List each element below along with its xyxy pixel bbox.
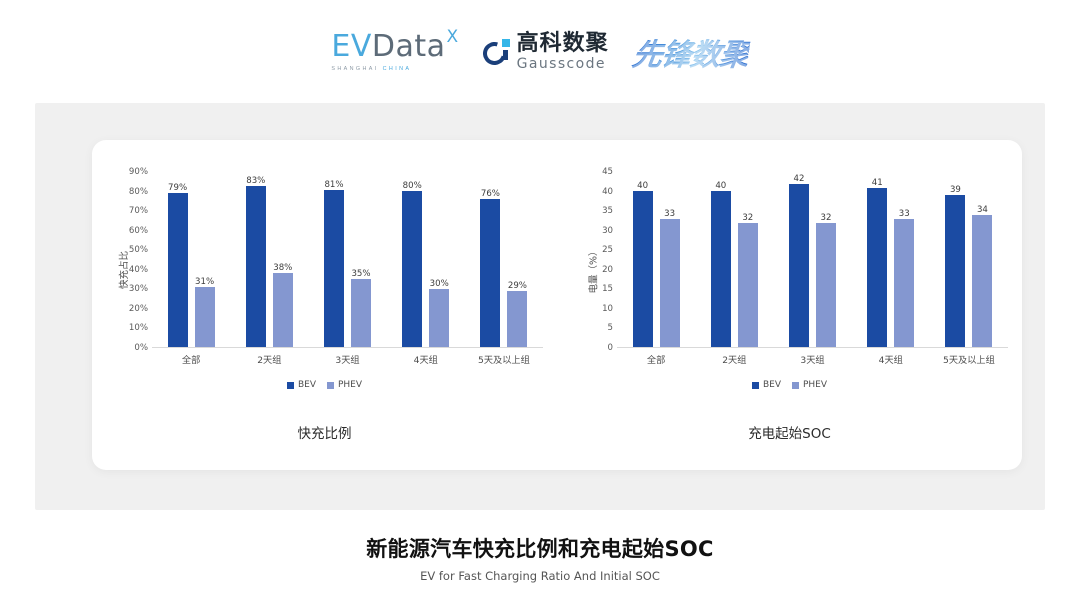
legend-swatch-icon bbox=[327, 382, 334, 389]
bar-bev[interactable]: 81% bbox=[324, 172, 344, 347]
legend-left: BEV PHEV bbox=[92, 380, 557, 390]
gausscode-logo: 高科数聚 Gausscode bbox=[483, 33, 609, 71]
evdata-tagline-shanghai: SHANGHAI bbox=[331, 66, 378, 72]
bar-value-label: 32 bbox=[742, 213, 753, 223]
evdata-tagline-china: CHINA bbox=[383, 66, 412, 72]
gausscode-mark-icon bbox=[483, 39, 510, 66]
chart-area-right: 电量（%） 45 40 35 30 25 20 15 10 5 0 bbox=[557, 154, 1022, 386]
bar-phev[interactable]: 38% bbox=[273, 172, 293, 347]
y-ticks-right: 45 40 35 30 25 20 15 10 5 0 bbox=[579, 172, 613, 348]
bar-group: 76% 29% bbox=[465, 172, 543, 347]
y-tick-label: 25 bbox=[602, 245, 613, 255]
bar-bev[interactable]: 79% bbox=[168, 172, 188, 347]
legend-item-phev[interactable]: PHEV bbox=[792, 380, 827, 390]
bar-value-label: 33 bbox=[899, 209, 910, 219]
x-axis-label: 5天及以上组 bbox=[465, 352, 543, 366]
bar-value-label: 42 bbox=[794, 174, 805, 184]
gausscode-name-en: Gausscode bbox=[517, 57, 609, 71]
y-tick-label: 20% bbox=[129, 304, 148, 314]
footer: 新能源汽车快充比例和充电起始SOC EV for Fast Charging R… bbox=[0, 533, 1080, 583]
bar-bev[interactable]: 40 bbox=[711, 172, 731, 347]
bar-bev[interactable]: 39 bbox=[945, 172, 965, 347]
legend-swatch-icon bbox=[792, 382, 799, 389]
y-tick-label: 0 bbox=[608, 343, 613, 353]
gausscode-text: 高科数聚 Gausscode bbox=[517, 33, 609, 71]
x-labels-right: 全部 2天组 3天组 4天组 5天及以上组 bbox=[617, 352, 1008, 366]
bar-phev[interactable]: 30% bbox=[429, 172, 449, 347]
y-tick-label: 45 bbox=[602, 167, 613, 177]
x-axis-label: 3天组 bbox=[773, 352, 851, 366]
bar-value-label: 81% bbox=[324, 180, 343, 190]
chart-fast-charging-ratio: 快充占比 90% 80% 70% 60% 50% 40% 30% 20% 10%… bbox=[92, 140, 557, 470]
bar-group: 40 32 bbox=[695, 172, 773, 347]
bar-group: 79% 31% bbox=[152, 172, 230, 347]
bar-group: 80% 30% bbox=[387, 172, 465, 347]
bar-group: 39 34 bbox=[930, 172, 1008, 347]
plot-left: 79% 31% 83% 3 bbox=[152, 172, 543, 348]
bar-value-label: 38% bbox=[273, 263, 292, 273]
y-tick-label: 60% bbox=[129, 226, 148, 236]
y-ticks-left: 90% 80% 70% 60% 50% 40% 30% 20% 10% 0% bbox=[114, 172, 148, 348]
y-tick-label: 70% bbox=[129, 206, 148, 216]
bar-bev[interactable]: 42 bbox=[789, 172, 809, 347]
legend-label: PHEV bbox=[338, 380, 362, 390]
y-tick-label: 80% bbox=[129, 187, 148, 197]
bar-value-label: 30% bbox=[430, 279, 449, 289]
y-tick-label: 90% bbox=[129, 167, 148, 177]
bar-value-label: 34 bbox=[977, 205, 988, 215]
bar-bev[interactable]: 80% bbox=[402, 172, 422, 347]
chart-caption-left: 快充比例 bbox=[92, 422, 557, 442]
bar-phev[interactable]: 29% bbox=[507, 172, 527, 347]
y-tick-label: 10% bbox=[129, 323, 148, 333]
bar-phev[interactable]: 34 bbox=[972, 172, 992, 347]
x-axis-label: 2天组 bbox=[230, 352, 308, 366]
bar-bev[interactable]: 41 bbox=[867, 172, 887, 347]
bar-value-label: 32 bbox=[821, 213, 832, 223]
xianfeng-logo: 先锋数聚 bbox=[630, 30, 752, 74]
y-tick-label: 20 bbox=[602, 265, 613, 275]
chart-area-left: 快充占比 90% 80% 70% 60% 50% 40% 30% 20% 10%… bbox=[92, 154, 557, 386]
x-axis-label: 4天组 bbox=[387, 352, 465, 366]
y-tick-label: 0% bbox=[134, 343, 148, 353]
bar-group: 83% 38% bbox=[230, 172, 308, 347]
x-axis-label: 4天组 bbox=[852, 352, 930, 366]
y-tick-label: 5 bbox=[608, 323, 613, 333]
logo-bar: EVDataX SHANGHAI CHINA 高科数聚 Gausscode 先锋… bbox=[0, 22, 1080, 82]
gausscode-bar-icon bbox=[503, 50, 508, 60]
legend-right: BEV PHEV bbox=[557, 380, 1022, 390]
x-axis-label: 全部 bbox=[617, 352, 695, 366]
bar-phev[interactable]: 32 bbox=[816, 172, 836, 347]
y-tick-label: 40 bbox=[602, 187, 613, 197]
bar-phev[interactable]: 32 bbox=[738, 172, 758, 347]
bar-value-label: 76% bbox=[481, 189, 500, 199]
y-tick-label: 40% bbox=[129, 265, 148, 275]
legend-item-bev[interactable]: BEV bbox=[287, 380, 316, 390]
chart-caption-right: 充电起始SOC bbox=[557, 422, 1022, 442]
bar-value-label: 39 bbox=[950, 185, 961, 195]
evdata-word-data: Data bbox=[372, 32, 446, 62]
evdata-x-superscript-icon: X bbox=[446, 29, 458, 46]
legend-item-phev[interactable]: PHEV bbox=[327, 380, 362, 390]
evdata-tagline: SHANGHAI CHINA bbox=[331, 66, 411, 72]
legend-item-bev[interactable]: BEV bbox=[752, 380, 781, 390]
legend-swatch-icon bbox=[752, 382, 759, 389]
gausscode-square-icon bbox=[502, 39, 510, 47]
y-tick-label: 30 bbox=[602, 226, 613, 236]
bar-bev[interactable]: 40 bbox=[633, 172, 653, 347]
bar-value-label: 33 bbox=[664, 209, 675, 219]
y-tick-label: 15 bbox=[602, 284, 613, 294]
bar-bev[interactable]: 83% bbox=[246, 172, 266, 347]
x-axis-label: 3天组 bbox=[308, 352, 386, 366]
plot-right: 40 33 40 32 bbox=[617, 172, 1008, 348]
evdata-letter-v: V bbox=[351, 32, 372, 62]
bar-value-label: 40 bbox=[715, 181, 726, 191]
bar-group: 42 32 bbox=[773, 172, 851, 347]
evdata-wordmark: EVDataX bbox=[331, 32, 458, 62]
legend-swatch-icon bbox=[287, 382, 294, 389]
gausscode-name-cn: 高科数聚 bbox=[517, 33, 609, 55]
bar-value-label: 31% bbox=[195, 277, 214, 287]
page-title: 新能源汽车快充比例和充电起始SOC bbox=[0, 533, 1080, 563]
bar-group: 81% 35% bbox=[308, 172, 386, 347]
y-tick-label: 50% bbox=[129, 245, 148, 255]
y-tick-label: 10 bbox=[602, 304, 613, 314]
page-subtitle: EV for Fast Charging Ratio And Initial S… bbox=[0, 569, 1080, 583]
bar-phev[interactable]: 33 bbox=[894, 172, 914, 347]
bar-phev[interactable]: 35% bbox=[351, 172, 371, 347]
chart-initial-soc: 电量（%） 45 40 35 30 25 20 15 10 5 0 bbox=[557, 140, 1022, 470]
x-axis-label: 全部 bbox=[152, 352, 230, 366]
charts-card: 快充占比 90% 80% 70% 60% 50% 40% 30% 20% 10%… bbox=[92, 140, 1022, 470]
bar-phev[interactable]: 31% bbox=[195, 172, 215, 347]
x-axis-label: 2天组 bbox=[695, 352, 773, 366]
bar-value-label: 83% bbox=[246, 176, 265, 186]
bar-value-label: 41 bbox=[872, 178, 883, 188]
bar-group: 40 33 bbox=[617, 172, 695, 347]
x-labels-left: 全部 2天组 3天组 4天组 5天及以上组 bbox=[152, 352, 543, 366]
bar-value-label: 80% bbox=[403, 181, 422, 191]
evdata-letter-e: E bbox=[331, 32, 350, 62]
bar-bev[interactable]: 76% bbox=[480, 172, 500, 347]
legend-label: BEV bbox=[298, 380, 316, 390]
legend-label: BEV bbox=[763, 380, 781, 390]
bar-value-label: 79% bbox=[168, 183, 187, 193]
evdata-logo: EVDataX SHANGHAI CHINA bbox=[331, 32, 458, 72]
x-axis-label: 5天及以上组 bbox=[930, 352, 1008, 366]
slide-root: EVDataX SHANGHAI CHINA 高科数聚 Gausscode 先锋… bbox=[0, 0, 1080, 608]
bar-value-label: 40 bbox=[637, 181, 648, 191]
y-tick-label: 35 bbox=[602, 206, 613, 216]
bar-group: 41 33 bbox=[852, 172, 930, 347]
legend-label: PHEV bbox=[803, 380, 827, 390]
y-tick-label: 30% bbox=[129, 284, 148, 294]
bar-value-label: 29% bbox=[508, 281, 527, 291]
bar-phev[interactable]: 33 bbox=[660, 172, 680, 347]
bar-value-label: 35% bbox=[351, 269, 370, 279]
